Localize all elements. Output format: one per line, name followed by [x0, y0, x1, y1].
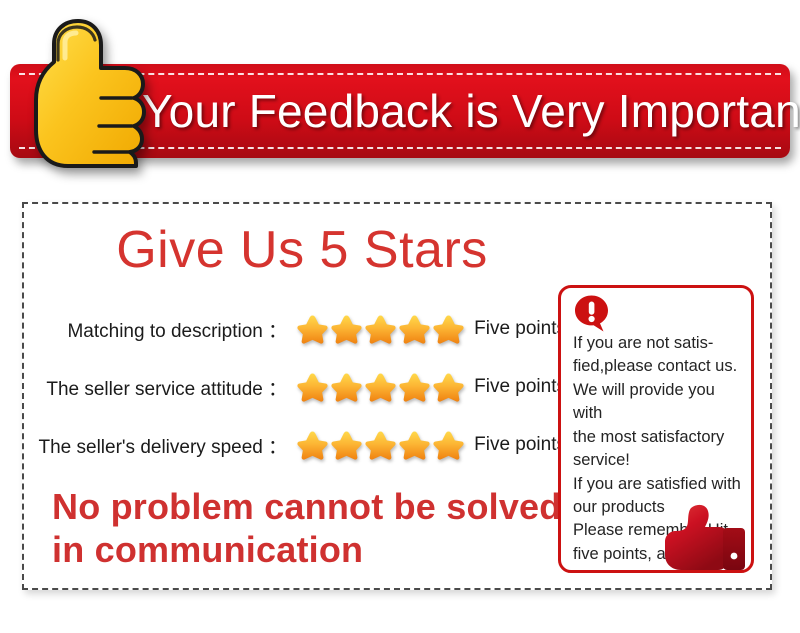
star-icon: [433, 314, 464, 344]
star-icon: [365, 314, 396, 344]
star-icon: [433, 430, 464, 460]
rating-row-label: Matching to description ：: [36, 316, 291, 343]
star-icon: [297, 372, 328, 402]
star-icon: [331, 372, 362, 402]
thumbs-up-icon: [661, 500, 747, 572]
star-icon: [399, 430, 430, 460]
star-icon: [297, 430, 328, 460]
banner-title: Your Feedback is Very Important: [142, 84, 800, 138]
rating-row-label: The seller's delivery speed ：: [36, 432, 291, 459]
rating-row-points: Five points: [474, 318, 566, 340]
star-icon: [399, 314, 430, 344]
rating-row: The seller service attitude ： Five point…: [36, 358, 566, 416]
star-icon: [331, 430, 362, 460]
rating-rows: Matching to description ： Five points Th…: [36, 300, 566, 474]
slogan: No problem cannot be solved in communica…: [52, 486, 562, 572]
rating-row-label: The seller service attitude ：: [36, 374, 291, 401]
rating-row: The seller's delivery speed ： Five point…: [36, 416, 566, 474]
panel-heading: Give Us 5 Stars: [24, 220, 580, 280]
rating-row-points: Five points: [474, 434, 566, 456]
feedback-request-image: Your Feedback is Very Important Give Us …: [0, 0, 800, 633]
star-rating[interactable]: [297, 314, 464, 344]
slogan-line-2: in communication: [52, 529, 562, 572]
exclamation-bubble-icon: [573, 294, 613, 334]
feedback-panel: Give Us 5 Stars Matching to description …: [22, 202, 772, 590]
star-icon: [297, 314, 328, 344]
thumbs-up-icon: [24, 18, 146, 168]
star-icon: [433, 372, 464, 402]
warning-box: If you are not satis- fied,please contac…: [558, 285, 754, 573]
rating-row-points: Five points: [474, 376, 566, 398]
star-icon: [365, 372, 396, 402]
star-rating[interactable]: [297, 430, 464, 460]
star-icon: [399, 372, 430, 402]
slogan-line-1: No problem cannot be solved: [52, 486, 562, 529]
star-icon: [365, 430, 396, 460]
star-icon: [331, 314, 362, 344]
rating-row: Matching to description ： Five points: [36, 300, 566, 358]
star-rating[interactable]: [297, 372, 464, 402]
